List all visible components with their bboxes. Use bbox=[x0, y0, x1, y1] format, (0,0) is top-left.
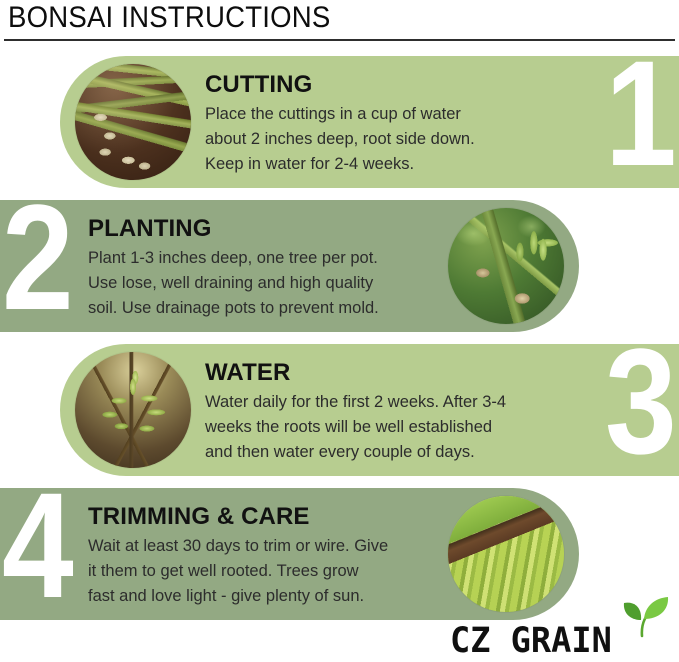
sprouting-cutting-photo-image bbox=[448, 208, 564, 324]
step-body-4: Wait at least 30 days to trim or wire. G… bbox=[88, 534, 431, 609]
step-text-2: PLANTING Plant 1-3 inches deep, one tree… bbox=[88, 214, 431, 321]
sapling-photo bbox=[75, 352, 191, 468]
page-title: BONSAI INSTRUCTIONS bbox=[8, 0, 330, 38]
step-number-1: 1 bbox=[603, 47, 677, 179]
logo-wordmark: CZ GRAIN bbox=[450, 622, 612, 660]
step-text-4: TRIMMING & CARE Wait at least 30 days to… bbox=[88, 502, 431, 609]
step-heading-3: WATER bbox=[205, 358, 587, 388]
step-number-4: 4 bbox=[0, 479, 74, 611]
step-card-4: 4 TRIMMING & CARE Wait at least 30 days … bbox=[0, 488, 579, 620]
step-content-1: CUTTING Place the cuttings in a cup of w… bbox=[60, 56, 679, 188]
step-content-2: 2 PLANTING Plant 1-3 inches deep, one tr… bbox=[0, 200, 579, 332]
step-heading-4: TRIMMING & CARE bbox=[88, 502, 431, 532]
step-body-2: Plant 1-3 inches deep, one tree per pot.… bbox=[88, 246, 431, 321]
sapling-photo-image bbox=[75, 352, 191, 468]
sprouting-cutting-photo bbox=[448, 208, 564, 324]
tree-rows-photo-image bbox=[448, 496, 564, 612]
step-body-1: Place the cuttings in a cup of water abo… bbox=[205, 102, 587, 177]
cuttings-photo-image bbox=[75, 64, 191, 180]
step-card-2: 2 PLANTING Plant 1-3 inches deep, one tr… bbox=[0, 200, 579, 332]
step-heading-1: CUTTING bbox=[205, 70, 587, 100]
step-card-1: CUTTING Place the cuttings in a cup of w… bbox=[60, 56, 679, 188]
step-content-3: WATER Water daily for the first 2 weeks.… bbox=[60, 344, 679, 476]
step-card-3: WATER Water daily for the first 2 weeks.… bbox=[60, 344, 679, 476]
step-heading-2: PLANTING bbox=[88, 214, 431, 244]
two-leaves-icon bbox=[611, 596, 673, 638]
brand-logo: CZ GRAIN bbox=[450, 610, 675, 662]
cuttings-photo bbox=[75, 64, 191, 180]
step-number-3: 3 bbox=[603, 335, 677, 467]
step-number-2: 2 bbox=[0, 191, 74, 323]
tree-rows-photo bbox=[448, 496, 564, 612]
title-divider bbox=[4, 39, 675, 41]
header: BONSAI INSTRUCTIONS bbox=[0, 0, 679, 46]
step-text-1: CUTTING Place the cuttings in a cup of w… bbox=[205, 70, 587, 177]
step-body-3: Water daily for the first 2 weeks. After… bbox=[205, 390, 587, 465]
step-content-4: 4 TRIMMING & CARE Wait at least 30 days … bbox=[0, 488, 579, 620]
step-text-3: WATER Water daily for the first 2 weeks.… bbox=[205, 358, 587, 465]
